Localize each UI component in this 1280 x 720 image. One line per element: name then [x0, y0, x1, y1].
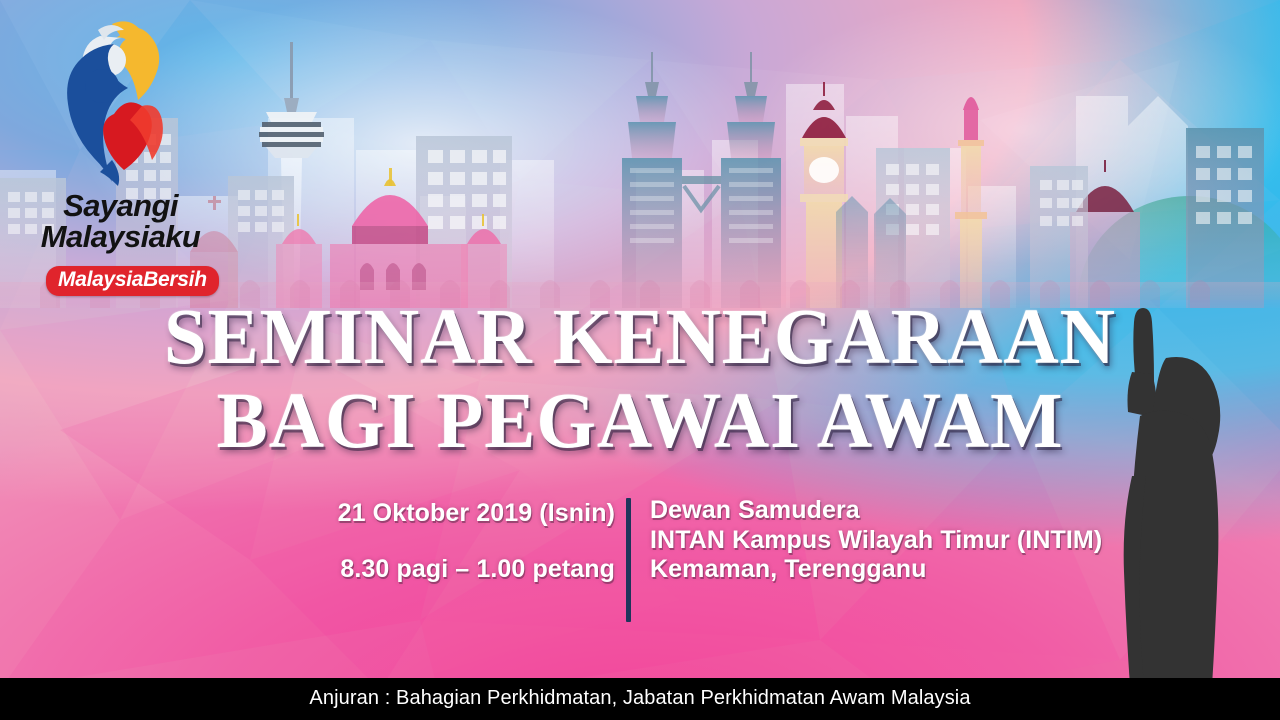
logo-wordmark: Sayangi Malaysiaku [18, 190, 223, 252]
logo-wordmark-line2: Malaysiaku [41, 219, 200, 254]
organizer-text: Anjuran : Bahagian Perkhidmatan, Jabatan… [0, 687, 1280, 710]
event-time: 8.30 pagi – 1.00 petang [330, 554, 615, 584]
details-divider [626, 498, 631, 622]
title-line-1: SEMINAR KENEGARAAN [19, 296, 1261, 380]
footer-bar: Anjuran : Bahagian Perkhidmatan, Jabatan… [0, 678, 1280, 720]
malaysia-bersih-badge: MalaysiaBersih [46, 266, 219, 296]
event-details: 21 Oktober 2019 (Isnin) 8.30 pagi – 1.00… [0, 496, 1100, 636]
venue-line-3: Kemaman, Terengganu [650, 555, 1120, 585]
venue-line-1: Dewan Samudera [650, 496, 1120, 526]
poster-canvas: Sayangi Malaysiaku MalaysiaBersih SEMINA… [0, 0, 1280, 720]
sayangi-malaysiaku-logo: Sayangi Malaysiaku MalaysiaBersih [18, 14, 223, 289]
title-line-2: BAGI PEGAWAI AWAM [19, 380, 1261, 464]
event-datetime: 21 Oktober 2019 (Isnin) 8.30 pagi – 1.00… [330, 498, 615, 584]
event-venue: Dewan Samudera INTAN Kampus Wilayah Timu… [650, 496, 1120, 585]
three-figures-heart-icon [54, 14, 174, 189]
page-title: SEMINAR KENEGARAAN BAGI PEGAWAI AWAM [19, 296, 1261, 464]
event-date: 21 Oktober 2019 (Isnin) [330, 498, 615, 528]
venue-line-2: INTAN Kampus Wilayah Timur (INTIM) [650, 526, 1120, 556]
logo-wordmark-line1: Sayangi [63, 188, 178, 223]
